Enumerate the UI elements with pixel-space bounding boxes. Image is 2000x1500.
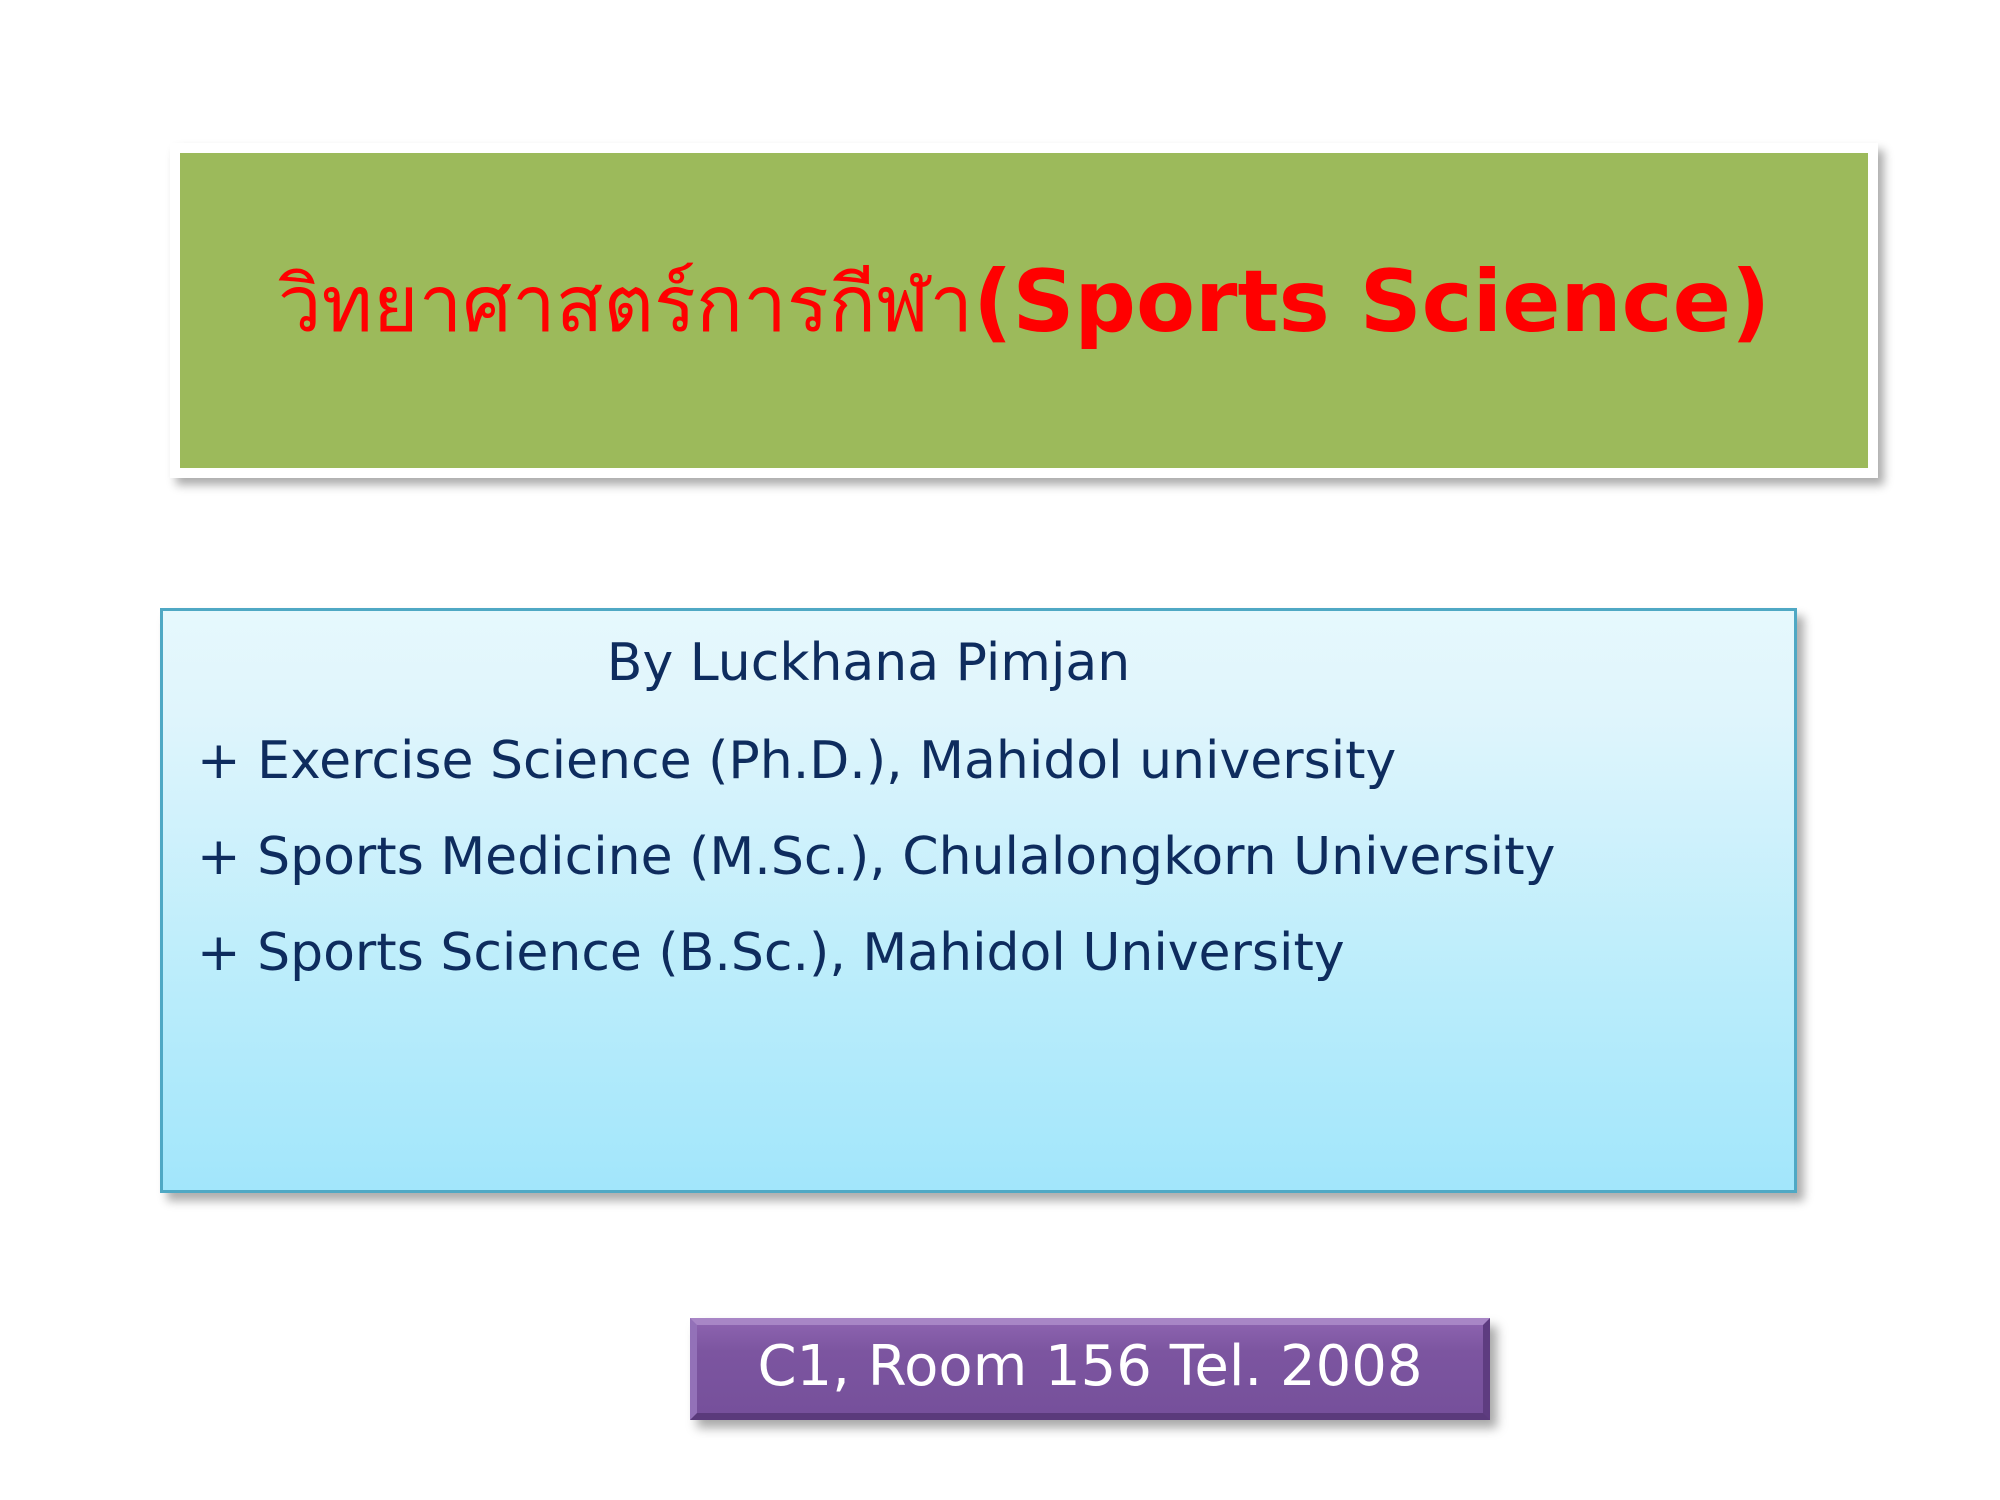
page-title: วิทยาศาสตร์การกีฬา(Sports Science) (278, 257, 1771, 347)
credential-line-2: + Sports Medicine (M.Sc.), Chulalongkorn… (197, 831, 1760, 883)
credential-line-1: + Exercise Science (Ph.D.), Mahidol univ… (197, 735, 1760, 787)
title-box: วิทยาศาสตร์การกีฬา(Sports Science) (170, 143, 1878, 478)
credential-line-3: + Sports Science (B.Sc.), Mahidol Univer… (197, 927, 1760, 979)
author-credentials-box: By Luckhana Pimjan + Exercise Science (P… (160, 608, 1797, 1193)
slide-canvas: วิทยาศาสตร์การกีฬา(Sports Science) By Lu… (0, 0, 2000, 1500)
contact-info-label: C1, Room 156 Tel. 2008 (757, 1339, 1422, 1395)
contact-info-box: C1, Room 156 Tel. 2008 (690, 1318, 1490, 1420)
title-box-fill: วิทยาศาสตร์การกีฬา(Sports Science) (180, 153, 1868, 468)
title-english-text: (Sports Science) (973, 252, 1770, 352)
author-name-line: By Luckhana Pimjan (197, 637, 1760, 689)
title-thai-text: วิทยาศาสตร์การกีฬา (278, 260, 973, 350)
